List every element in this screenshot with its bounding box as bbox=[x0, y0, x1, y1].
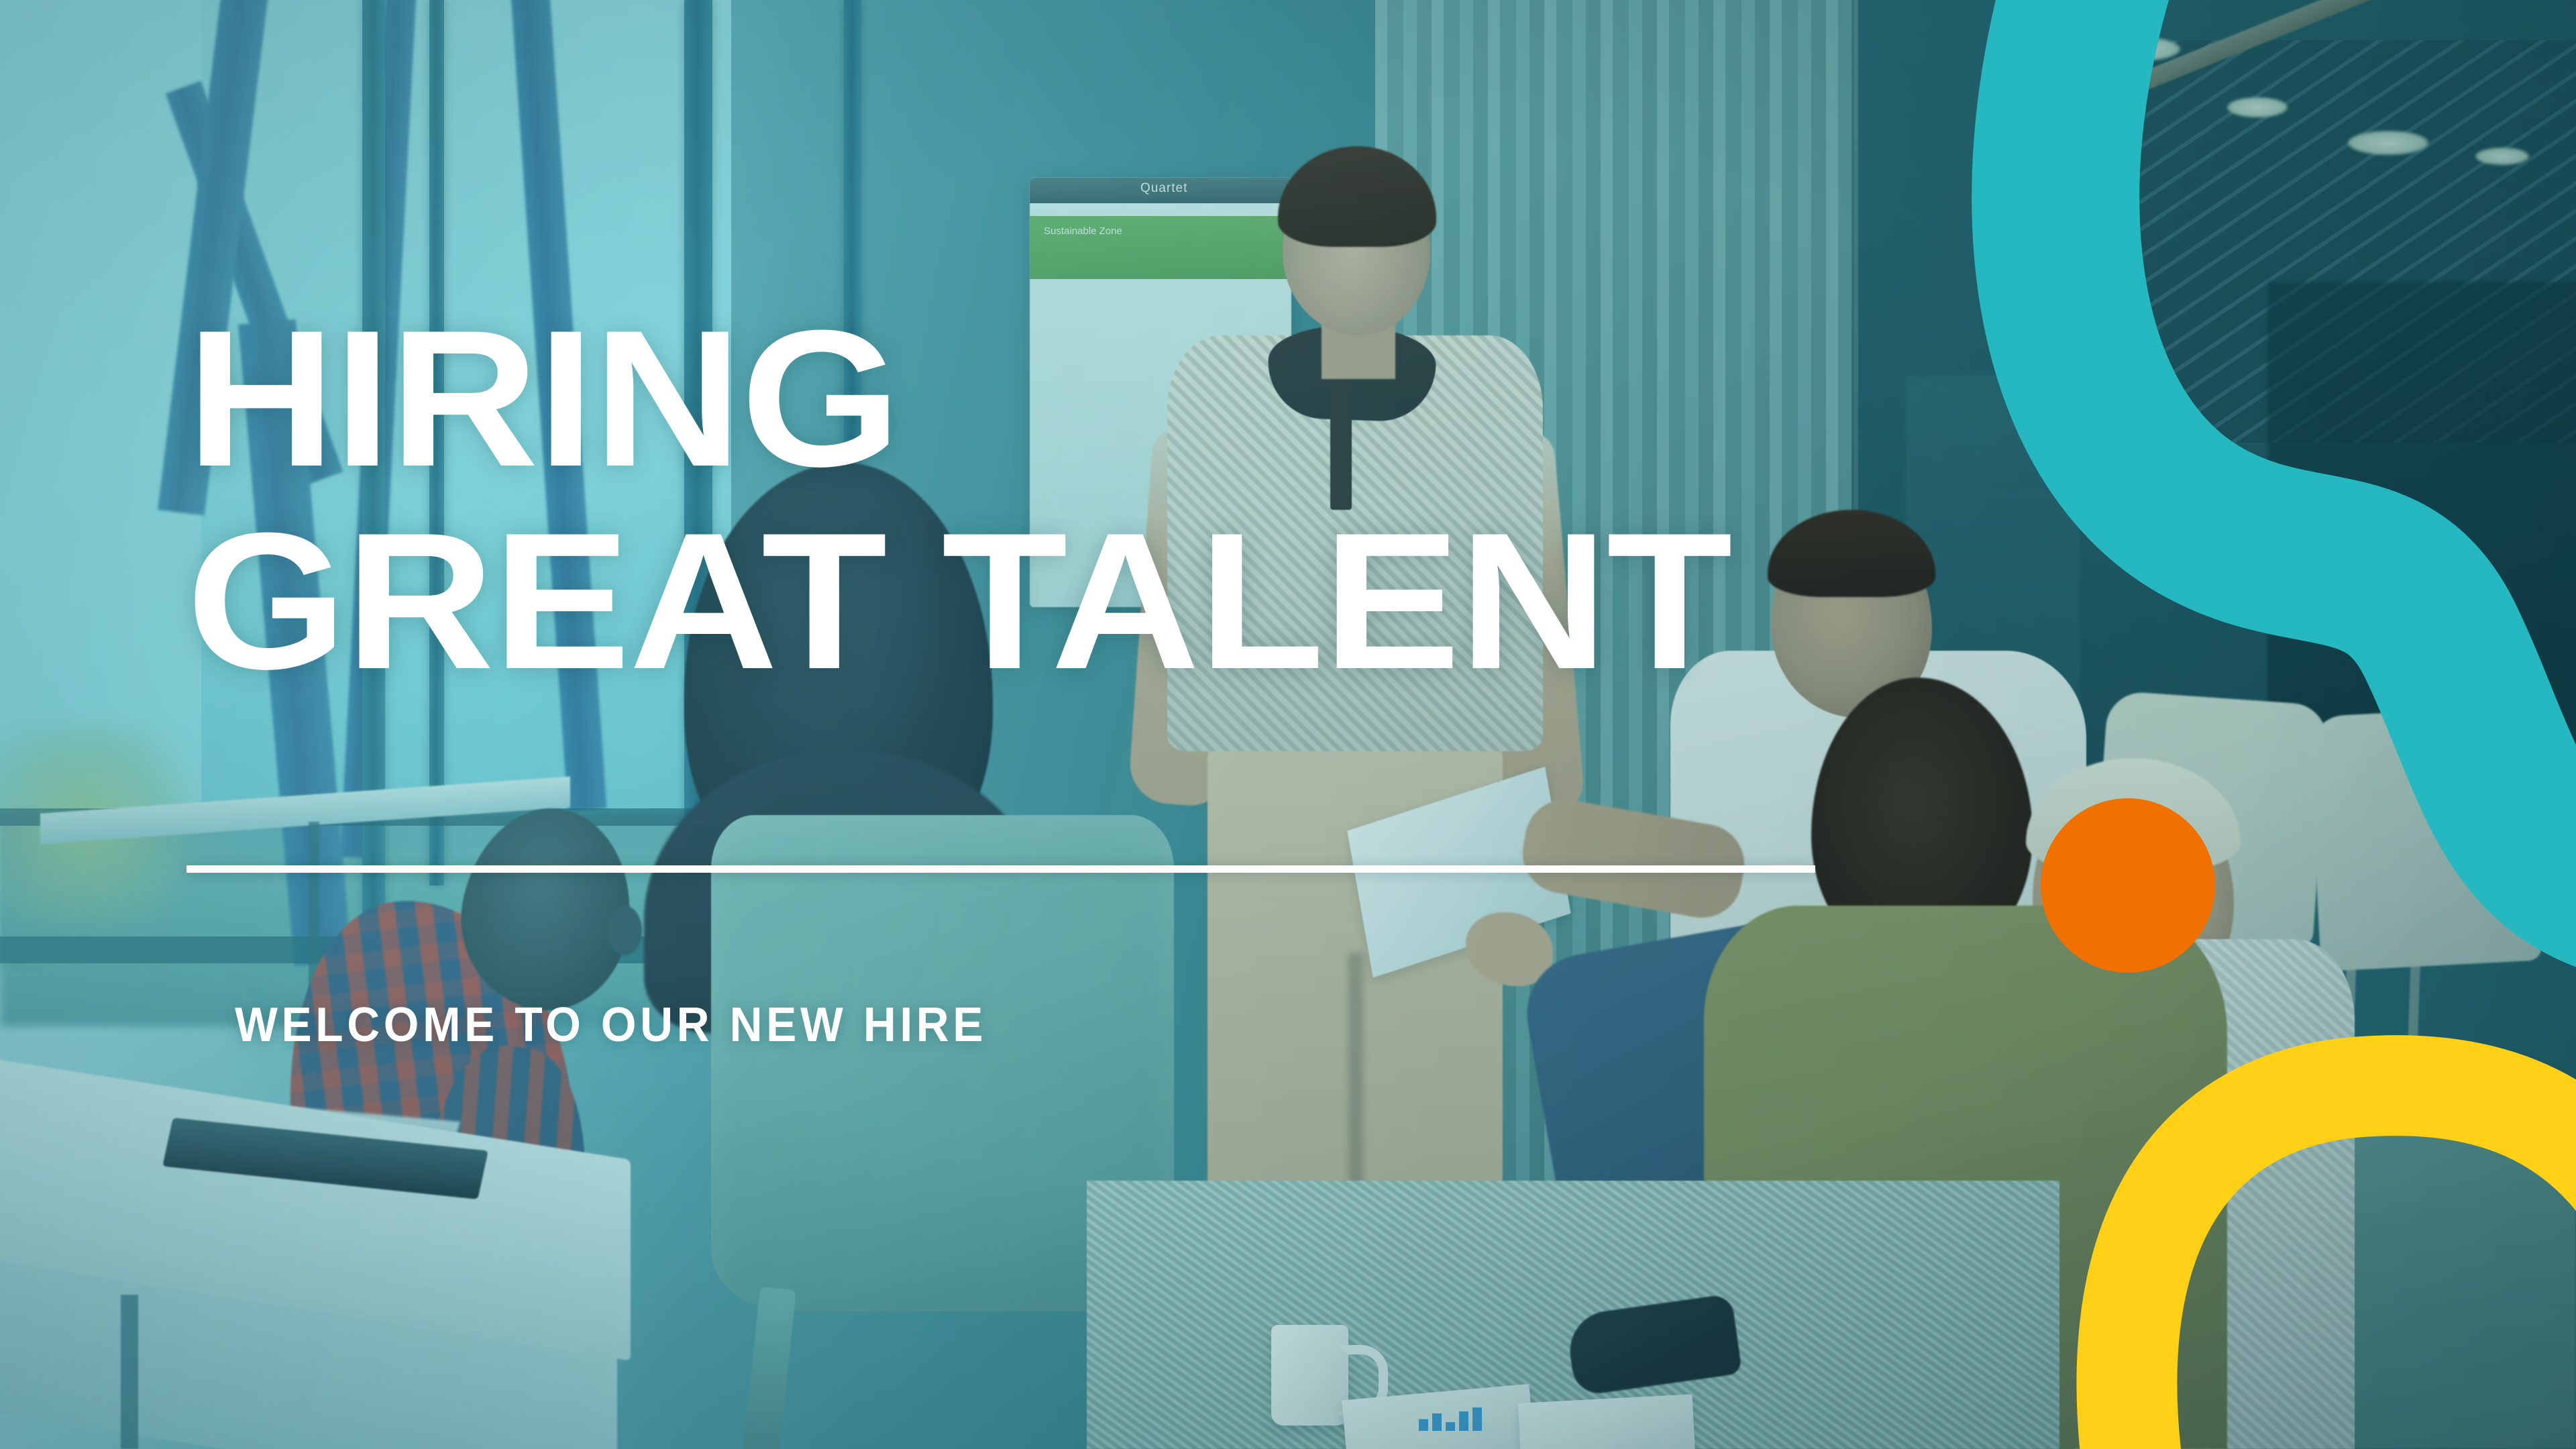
decorative-shapes-layer bbox=[0, 0, 2576, 1449]
headline-line-2: GREAT TALENT bbox=[186, 506, 2249, 696]
orange-dot-icon bbox=[2041, 798, 2215, 973]
yellow-arc-icon bbox=[2127, 1085, 2576, 1449]
divider-rule bbox=[186, 865, 1815, 873]
hiring-poster: Quartet Sustainable Zone bbox=[0, 0, 2576, 1449]
subtitle: WELCOME TO OUR NEW HIRE bbox=[235, 998, 987, 1053]
page-title: HIRING GREAT TALENT bbox=[186, 303, 2249, 696]
headline-line-1: HIRING bbox=[186, 303, 2249, 494]
